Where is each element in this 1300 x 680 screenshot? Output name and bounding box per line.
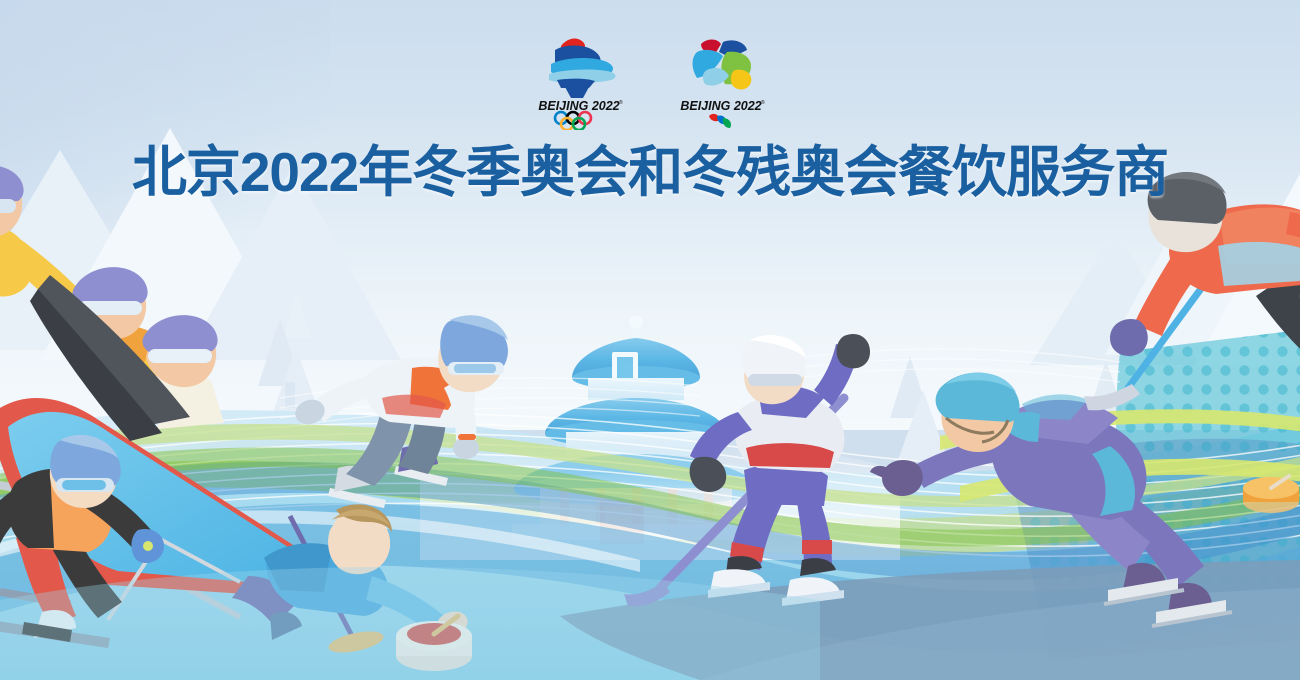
emblem-row: BEIJING 2022 ® BEI — [0, 30, 1300, 130]
page-title: 北京2022年冬季奥会和冬残奥会餐饮服务商 — [0, 144, 1300, 202]
svg-text:®: ® — [761, 99, 765, 106]
emblem-wordmark: BEIJING 2022 — [680, 99, 761, 113]
beijing-2022-paralympic-emblem: BEIJING 2022 ® — [673, 30, 769, 130]
foreground-mist — [0, 567, 820, 680]
curling-stone — [1243, 476, 1299, 513]
agitos-icon — [709, 114, 731, 128]
emblem-wordmark: BEIJING 2022 — [538, 99, 619, 113]
beijing-2022-catering-banner: BEIJING 2022 ® BEI — [0, 0, 1300, 680]
emblem-stroke-blue3 — [565, 86, 589, 99]
svg-text:®: ® — [619, 99, 623, 106]
olympic-rings-icon — [555, 112, 591, 130]
beijing-2022-olympic-emblem: BEIJING 2022 ® — [531, 30, 627, 130]
